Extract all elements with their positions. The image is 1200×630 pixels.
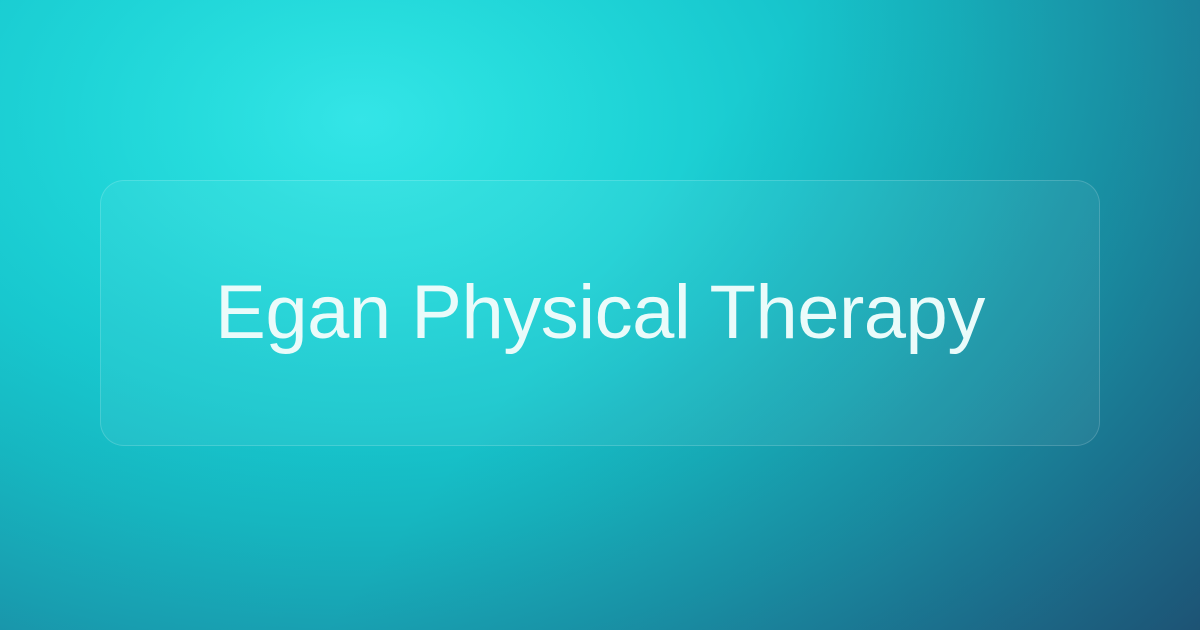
title-card-content: Egan Physical Therapy bbox=[160, 268, 1040, 358]
page-title: Egan Physical Therapy bbox=[215, 268, 985, 358]
og-image-canvas: Egan Physical Therapy bbox=[0, 0, 1200, 630]
title-card: Egan Physical Therapy bbox=[100, 180, 1100, 446]
